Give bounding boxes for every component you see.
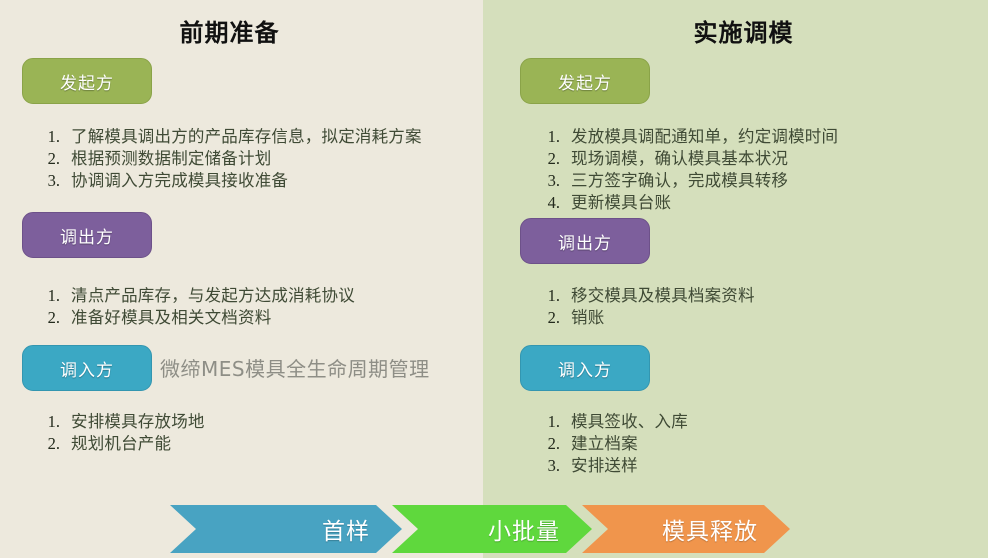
right-role-label-transferor: 调出方 xyxy=(558,229,612,254)
list-number: 1. xyxy=(34,285,71,307)
list-number: 2. xyxy=(34,148,71,170)
right-role-pill-transferor[interactable]: 调出方 xyxy=(520,218,650,264)
list-item: 3. 协调调入方完成模具接收准备 xyxy=(34,170,422,192)
right-role-label-initiator: 发起方 xyxy=(558,69,612,94)
left-role-label-transferor: 调出方 xyxy=(60,223,114,248)
list-item: 2. 建立档案 xyxy=(534,433,688,455)
list-item: 2. 销账 xyxy=(534,307,755,329)
slide-canvas: 前期准备 实施调模 发起方 1. 了解模具调出方的产品库存信息，拟定消耗方案 2… xyxy=(0,0,988,558)
list-item: 1. 模具签收、入库 xyxy=(534,411,688,433)
chevron-step-first-sample[interactable]: 首样 xyxy=(170,505,402,553)
list-number: 3. xyxy=(534,455,571,477)
list-text: 安排模具存放场地 xyxy=(71,411,205,433)
list-item: 2. 规划机台产能 xyxy=(34,433,205,455)
list-number: 1. xyxy=(534,285,571,307)
list-item: 3. 三方签字确认，完成模具转移 xyxy=(534,170,838,192)
chevron-step-mold-release[interactable]: 模具释放 xyxy=(582,505,790,553)
list-number: 2. xyxy=(534,307,571,329)
list-item: 4. 更新模具台账 xyxy=(534,192,838,214)
chevron-step-small-batch[interactable]: 小批量 xyxy=(392,505,592,553)
list-text: 销账 xyxy=(571,307,604,329)
right-role-label-receiver: 调入方 xyxy=(558,356,612,381)
list-number: 4. xyxy=(534,192,571,214)
list-number: 2. xyxy=(534,433,571,455)
watermark-text: 微缔MES模具全生命周期管理 xyxy=(160,353,430,382)
list-number: 2. xyxy=(34,307,71,329)
list-text: 根据预测数据制定储备计划 xyxy=(71,148,271,170)
list-number: 1. xyxy=(534,126,571,148)
right-panel-title: 实施调模 xyxy=(491,20,988,46)
list-number: 2. xyxy=(534,148,571,170)
list-item: 1. 安排模具存放场地 xyxy=(34,411,205,433)
list-item: 1. 了解模具调出方的产品库存信息，拟定消耗方案 xyxy=(34,126,422,148)
right-list-transferor: 1. 移交模具及模具档案资料 2. 销账 xyxy=(534,285,755,329)
chevron-step-label: 小批量 xyxy=(488,512,560,546)
list-number: 1. xyxy=(34,411,71,433)
chevron-step-label: 首样 xyxy=(322,512,370,546)
list-text: 准备好模具及相关文档资料 xyxy=(71,307,271,329)
list-text: 清点产品库存，与发起方达成消耗协议 xyxy=(71,285,355,307)
list-number: 1. xyxy=(534,411,571,433)
right-list-initiator: 1. 发放模具调配通知单，约定调模时间 2. 现场调模，确认模具基本状况 3. … xyxy=(534,126,838,214)
left-list-receiver: 1. 安排模具存放场地 2. 规划机台产能 xyxy=(34,411,205,455)
list-item: 1. 移交模具及模具档案资料 xyxy=(534,285,755,307)
list-text: 规划机台产能 xyxy=(71,433,171,455)
right-role-pill-receiver[interactable]: 调入方 xyxy=(520,345,650,391)
list-item: 2. 根据预测数据制定储备计划 xyxy=(34,148,422,170)
list-text: 发放模具调配通知单，约定调模时间 xyxy=(571,126,838,148)
list-number: 1. xyxy=(34,126,71,148)
list-text: 移交模具及模具档案资料 xyxy=(571,285,755,307)
left-role-label-receiver: 调入方 xyxy=(60,356,114,381)
list-item: 1. 清点产品库存，与发起方达成消耗协议 xyxy=(34,285,355,307)
list-text: 现场调模，确认模具基本状况 xyxy=(571,148,788,170)
chevron-step-label: 模具释放 xyxy=(662,512,758,546)
process-chevron-banner: 首样 小批量 模具释放 xyxy=(170,505,790,553)
list-text: 三方签字确认，完成模具转移 xyxy=(571,170,788,192)
left-list-transferor: 1. 清点产品库存，与发起方达成消耗协议 2. 准备好模具及相关文档资料 xyxy=(34,285,355,329)
list-item: 2. 现场调模，确认模具基本状况 xyxy=(534,148,838,170)
list-text: 模具签收、入库 xyxy=(571,411,688,433)
list-text: 安排送样 xyxy=(571,455,638,477)
left-role-pill-transferor[interactable]: 调出方 xyxy=(22,212,152,258)
list-text: 建立档案 xyxy=(571,433,638,455)
left-role-pill-receiver[interactable]: 调入方 xyxy=(22,345,152,391)
right-list-receiver: 1. 模具签收、入库 2. 建立档案 3. 安排送样 xyxy=(534,411,688,477)
left-panel-title: 前期准备 xyxy=(0,20,471,46)
list-item: 3. 安排送样 xyxy=(534,455,688,477)
right-role-pill-initiator[interactable]: 发起方 xyxy=(520,58,650,104)
list-number: 2. xyxy=(34,433,71,455)
left-role-label-initiator: 发起方 xyxy=(60,69,114,94)
list-item: 1. 发放模具调配通知单，约定调模时间 xyxy=(534,126,838,148)
list-number: 3. xyxy=(534,170,571,192)
list-number: 3. xyxy=(34,170,71,192)
left-role-pill-initiator[interactable]: 发起方 xyxy=(22,58,152,104)
left-list-initiator: 1. 了解模具调出方的产品库存信息，拟定消耗方案 2. 根据预测数据制定储备计划… xyxy=(34,126,422,192)
list-item: 2. 准备好模具及相关文档资料 xyxy=(34,307,355,329)
list-text: 协调调入方完成模具接收准备 xyxy=(71,170,288,192)
list-text: 了解模具调出方的产品库存信息，拟定消耗方案 xyxy=(71,126,422,148)
list-text: 更新模具台账 xyxy=(571,192,671,214)
